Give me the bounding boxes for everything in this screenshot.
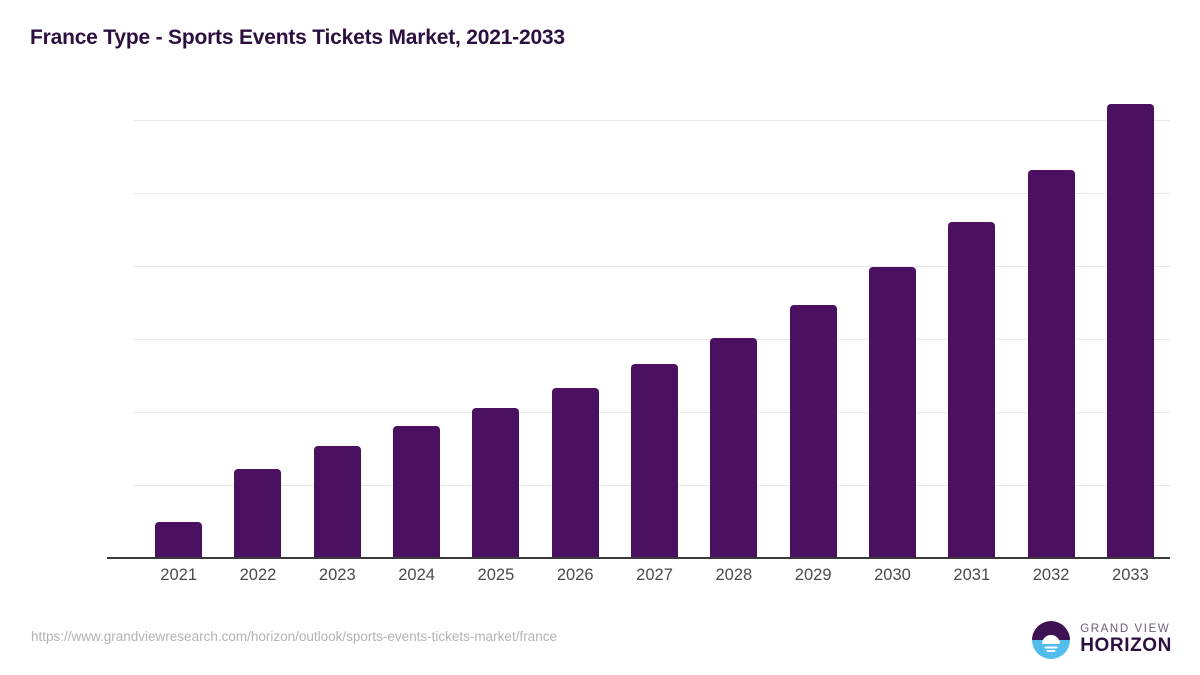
bar[interactable] — [948, 222, 995, 558]
bar[interactable] — [472, 408, 519, 558]
x-tick-label: 2033 — [1091, 566, 1170, 585]
bar[interactable] — [631, 364, 678, 558]
bar-slot — [853, 120, 932, 558]
logo-wordmark: GRAND VIEW HORIZON — [1080, 623, 1172, 657]
bar[interactable] — [1028, 170, 1075, 558]
x-axis-tick-labels: 2021202220232024202520262027202820292030… — [139, 566, 1170, 585]
x-axis-line — [107, 557, 1170, 559]
bar-slot — [218, 120, 297, 558]
bar[interactable] — [1107, 104, 1154, 558]
chart-page: France Type - Sports Events Tickets Mark… — [0, 0, 1200, 675]
bar-slot — [139, 120, 218, 558]
page-title: France Type - Sports Events Tickets Mark… — [30, 26, 565, 50]
x-tick-label: 2032 — [1011, 566, 1090, 585]
bar[interactable] — [710, 338, 757, 558]
bar-series — [139, 120, 1170, 558]
bar-slot — [1091, 120, 1170, 558]
bar[interactable] — [155, 522, 202, 559]
x-tick-label: 2024 — [377, 566, 456, 585]
bar-slot — [615, 120, 694, 558]
bar[interactable] — [790, 305, 837, 558]
bar-slot — [298, 120, 377, 558]
x-tick-label: 2027 — [615, 566, 694, 585]
x-tick-label: 2028 — [694, 566, 773, 585]
grand-view-horizon-mark-icon — [1031, 620, 1071, 660]
x-tick-label: 2025 — [456, 566, 535, 585]
bar-slot — [377, 120, 456, 558]
bar[interactable] — [234, 469, 281, 558]
x-tick-label: 2031 — [932, 566, 1011, 585]
x-tick-label: 2029 — [774, 566, 853, 585]
bar-slot — [456, 120, 535, 558]
bar-slot — [1011, 120, 1090, 558]
x-tick-label: 2022 — [218, 566, 297, 585]
logo-line-2: HORIZON — [1080, 636, 1172, 657]
bar-slot — [932, 120, 1011, 558]
bar-slot — [694, 120, 773, 558]
x-tick-label: 2023 — [298, 566, 377, 585]
source-url[interactable]: https://www.grandviewresearch.com/horizo… — [31, 629, 557, 644]
bar-slot — [774, 120, 853, 558]
x-tick-label: 2030 — [853, 566, 932, 585]
bar[interactable] — [314, 446, 361, 558]
x-tick-label: 2021 — [139, 566, 218, 585]
bar[interactable] — [552, 388, 599, 558]
x-tick-label: 2026 — [536, 566, 615, 585]
y-axis-title: Market Size (US$M) — [0, 189, 1, 338]
bar[interactable] — [393, 426, 440, 558]
bar-slot — [536, 120, 615, 558]
plot-area — [139, 120, 1170, 558]
bar[interactable] — [869, 267, 916, 558]
brand-logo: GRAND VIEW HORIZON — [1031, 618, 1172, 662]
